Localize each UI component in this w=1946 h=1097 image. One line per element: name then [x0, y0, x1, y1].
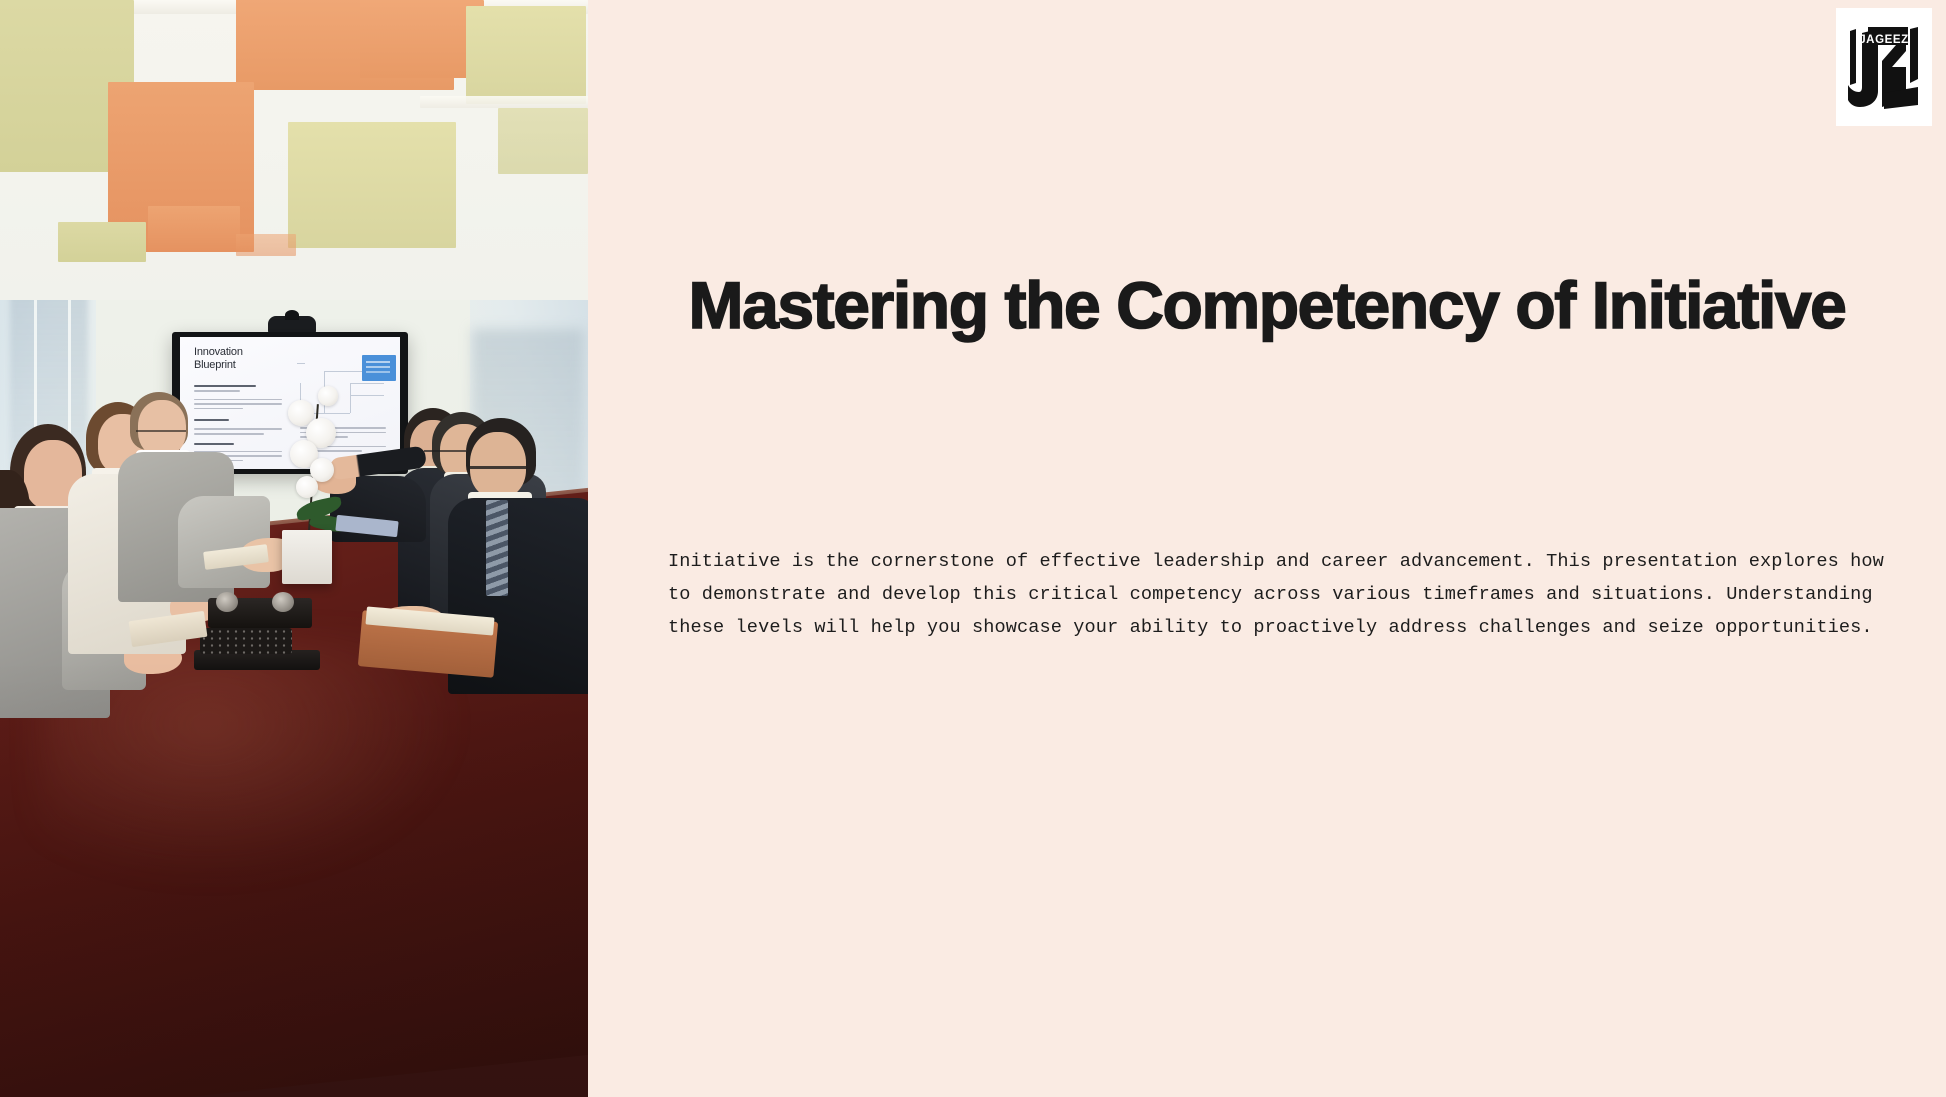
display-title-line-2: Blueprint: [194, 359, 236, 371]
jageez-monogram-icon: JAGEEZ: [1848, 21, 1920, 113]
acoustic-ceiling-panels: [0, 0, 588, 300]
slide-content-panel: JAGEEZ Mastering the Competency of Initi…: [588, 0, 1946, 1097]
orchid-planter: [282, 530, 332, 584]
body-block: Initiative is the cornerstone of effecti…: [668, 545, 1892, 644]
display-badge: [362, 355, 396, 381]
orchid-bloom: [318, 386, 338, 406]
eyeglasses: [424, 450, 466, 452]
eyeglasses: [470, 466, 526, 469]
orchid-bloom: [296, 476, 318, 498]
brand-logo[interactable]: JAGEEZ: [1836, 8, 1932, 126]
slide-hero-image: Innovation Blueprint: [0, 0, 588, 1097]
presentation-slide: Innovation Blueprint: [0, 0, 1946, 1097]
display-title-line-1: Innovation: [194, 346, 243, 358]
eyeglasses: [136, 430, 186, 432]
logo-wordmark: JAGEEZ: [1859, 34, 1909, 46]
display-screen-title: Innovation Blueprint: [194, 346, 243, 372]
title-block: Mastering the Competency of Initiative: [666, 272, 1868, 339]
body-paragraph: Initiative is the cornerstone of effecti…: [668, 545, 1892, 644]
vintage-typewriter: [194, 596, 320, 670]
page-title: Mastering the Competency of Initiative: [666, 272, 1868, 339]
